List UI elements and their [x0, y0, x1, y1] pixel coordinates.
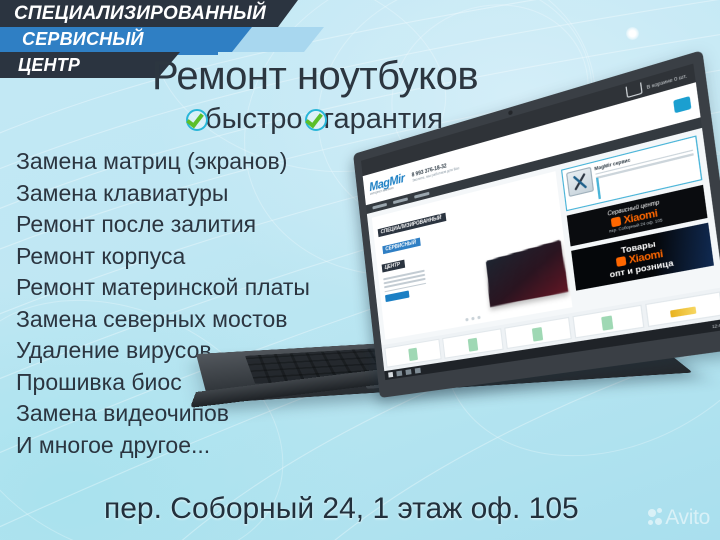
avito-watermark: Avito [648, 506, 710, 530]
site-sidebar: MagMir сервис Сервисный центр Xiaomi пер… [561, 135, 717, 306]
taskbar-item[interactable] [415, 368, 421, 374]
advertisement-poster: СПЕЦИАЛИЗИРОВАННЫЙ СЕРВИСНЫЙ ЦЕНТР Ремон… [0, 0, 720, 540]
laptop-illustration: В корзине 0 шт. MagMir интернет-магазин … [196, 148, 720, 498]
checkmark-icon [305, 109, 327, 131]
carousel-dots[interactable] [465, 316, 480, 322]
promo-laptop-image [486, 240, 569, 307]
checkmark-icon [186, 109, 208, 131]
address-text: пер. Соборный 24, 1 этаж оф. 105 [104, 492, 579, 526]
benefit-warranty-label: гарантия [324, 103, 444, 136]
windows-start-icon[interactable] [388, 372, 393, 378]
service-card-button[interactable] [596, 177, 601, 199]
cart-icon[interactable] [625, 82, 642, 98]
benefits-line: быстро гарантия [186, 103, 445, 136]
sparkle-dot [626, 27, 639, 40]
site-phone: 8 993 376-18-32 Звоните, мы работаем для… [411, 160, 459, 183]
avito-dots-icon [648, 508, 663, 528]
site-logo[interactable]: MagMir интернет-магазин [369, 172, 406, 196]
promo-button[interactable] [385, 291, 409, 303]
avito-brand-label: Avito [665, 506, 710, 530]
taskbar-item[interactable] [396, 371, 402, 377]
benefit-fast-label: быстро [205, 103, 303, 136]
mi-icon [611, 216, 622, 227]
taskbar-clock: 12:41 [712, 322, 720, 328]
ribbon-service: СЕРВИСНЫЙ [0, 27, 252, 52]
promo-band-center: ЦЕНТР [382, 260, 406, 273]
site-phone-note: Звоните, мы работаем для Вас [412, 166, 459, 183]
mi-icon [616, 256, 627, 267]
tools-icon [566, 167, 594, 197]
taskbar-item[interactable] [405, 369, 411, 375]
page-title: Ремонт ноутбуков [152, 54, 478, 99]
search-icon[interactable] [673, 95, 691, 112]
ribbon-specialized: СПЕЦИАЛИЗИРОВАННЫЙ [0, 0, 298, 27]
webcam-icon [508, 110, 513, 115]
